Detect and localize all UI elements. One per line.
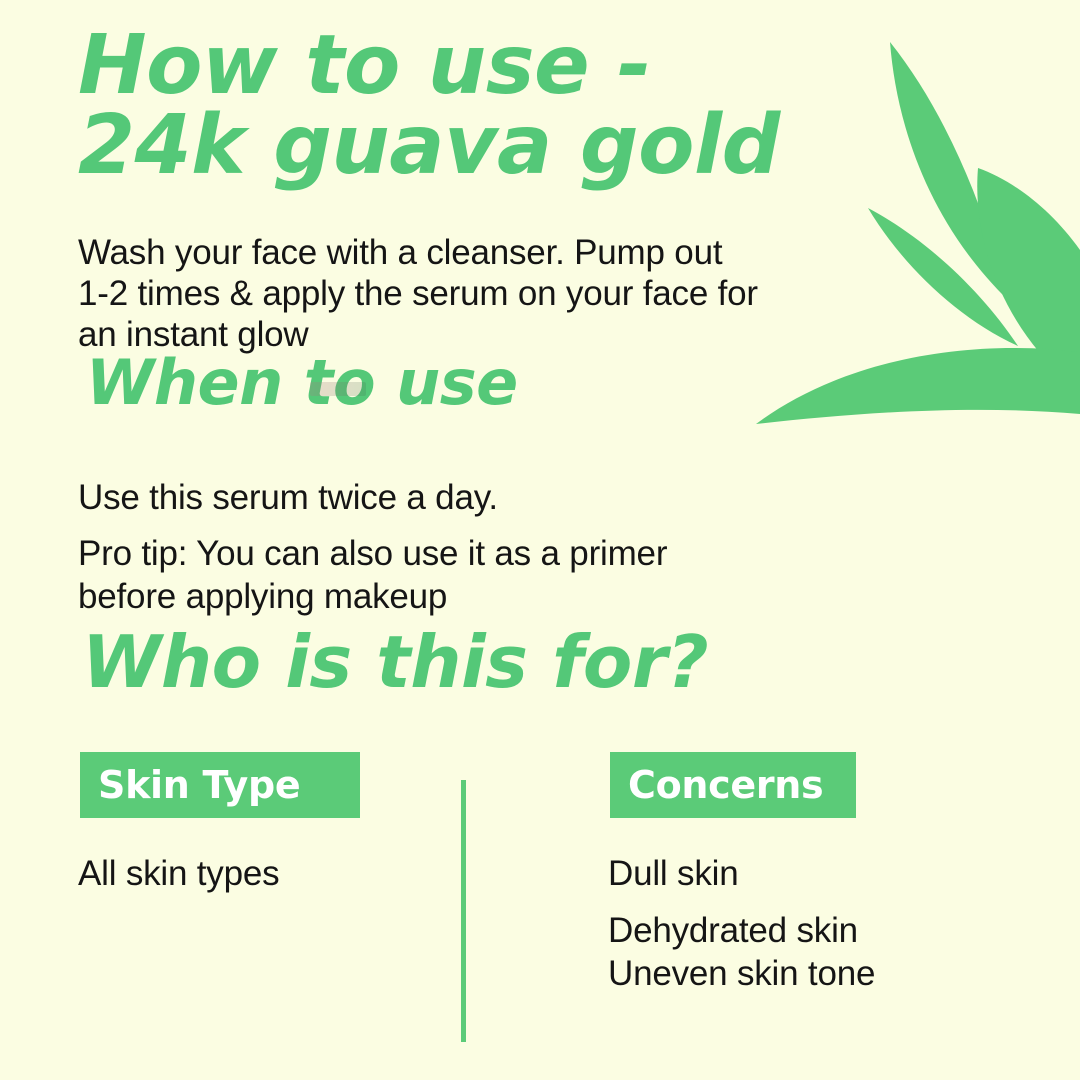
page-title: How to use - 24k guava gold xyxy=(78,26,838,185)
who-is-this-for-heading: Who is this for? xyxy=(82,626,708,698)
when-to-use-frequency: Use this serum twice a day. xyxy=(78,478,498,518)
list-item: All skin types xyxy=(78,856,428,891)
chip-skin-type: Skin Type xyxy=(80,752,360,818)
list-item: Dehydrated skin xyxy=(608,913,1008,948)
chip-skin-type-label: Skin Type xyxy=(98,763,300,807)
when-to-use-protip: Pro tip: You can also use it as a primer… xyxy=(78,533,778,618)
concerns-list: Dull skin Dehydrated skin Uneven skin to… xyxy=(608,856,1008,991)
chip-concerns: Concerns xyxy=(610,752,856,818)
chip-concerns-label: Concerns xyxy=(628,763,823,807)
skin-type-list: All skin types xyxy=(78,856,428,891)
poster-canvas: How to use - 24k guava gold Wash your fa… xyxy=(0,0,1080,1080)
intro-instructions: Wash your face with a cleanser. Pump out… xyxy=(78,233,868,356)
list-item: Dull skin xyxy=(608,856,1008,891)
list-item: Uneven skin tone xyxy=(608,956,1008,991)
column-divider xyxy=(461,780,466,1042)
when-to-use-heading: When to use xyxy=(86,352,518,414)
